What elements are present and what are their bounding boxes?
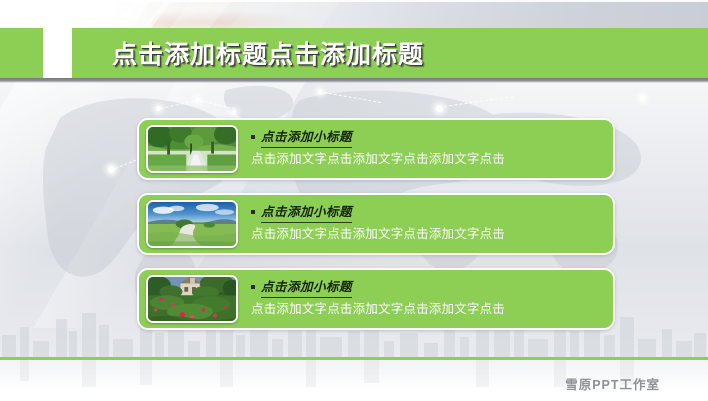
map-node-dot xyxy=(196,98,200,102)
square-bullet-icon xyxy=(251,135,255,139)
content-row-list: 点击添加小标题 点击添加文字点击添加文字点击添加文字点击 xyxy=(137,118,617,343)
map-connector-line xyxy=(444,96,513,107)
thumbnail-forest-road[interactable] xyxy=(146,125,238,173)
header-silver-band xyxy=(0,0,708,31)
map-node-dot xyxy=(318,90,322,94)
row-text-block: 点击添加小标题 点击添加文字点击添加文字点击添加文字点击 xyxy=(251,205,613,243)
map-connector-line xyxy=(160,100,199,109)
footer-accent-rule xyxy=(0,357,708,360)
map-node-dot xyxy=(108,166,115,173)
map-node-dot xyxy=(156,106,161,111)
garden-house-photo xyxy=(148,277,236,321)
row-subtitle-label: 点击添加小标题 xyxy=(261,205,352,223)
thumbnail-garden-house[interactable] xyxy=(146,275,238,323)
top-highlight-line xyxy=(0,0,708,2)
content-row[interactable]: 点击添加小标题 点击添加文字点击添加文字点击添加文字点击 xyxy=(137,193,615,255)
content-row[interactable]: 点击添加小标题 点击添加文字点击添加文字点击添加文字点击 xyxy=(137,268,615,330)
row-body-text[interactable]: 点击添加文字点击添加文字点击添加文字点击 xyxy=(251,226,613,243)
row-body-text[interactable]: 点击添加文字点击添加文字点击添加文字点击 xyxy=(251,151,613,168)
title-bar-white-gap xyxy=(43,28,72,78)
title-bar-left-block xyxy=(0,28,43,78)
footer-watermark: 雪原PPT工作室 xyxy=(565,374,660,393)
row-subtitle[interactable]: 点击添加小标题 xyxy=(251,280,613,298)
square-bullet-icon xyxy=(251,210,255,214)
map-node-dot xyxy=(232,110,236,114)
presentation-slide: 点击添加标题点击添加标题 xyxy=(0,0,708,401)
title-bar-shadow xyxy=(0,78,708,83)
slide-title[interactable]: 点击添加标题点击添加标题 xyxy=(112,28,672,78)
map-node-dot xyxy=(640,96,645,101)
row-text-block: 点击添加小标题 点击添加文字点击添加文字点击添加文字点击 xyxy=(251,130,613,168)
square-bullet-icon xyxy=(251,285,255,289)
row-subtitle[interactable]: 点击添加小标题 xyxy=(251,205,613,223)
meadow-path-photo xyxy=(148,202,236,246)
map-connector-line xyxy=(200,100,235,110)
content-row[interactable]: 点击添加小标题 点击添加文字点击添加文字点击添加文字点击 xyxy=(137,118,615,180)
row-subtitle-label: 点击添加小标题 xyxy=(261,130,352,148)
row-subtitle-label: 点击添加小标题 xyxy=(261,280,352,298)
forest-road-photo xyxy=(148,127,236,171)
row-text-block: 点击添加小标题 点击添加文字点击添加文字点击添加文字点击 xyxy=(251,280,613,318)
map-node-dot xyxy=(436,105,443,112)
thumbnail-meadow-path[interactable] xyxy=(146,200,238,248)
map-connector-line xyxy=(324,92,381,103)
row-body-text[interactable]: 点击添加文字点击添加文字点击添加文字点击 xyxy=(251,301,613,318)
row-subtitle[interactable]: 点击添加小标题 xyxy=(251,130,613,148)
